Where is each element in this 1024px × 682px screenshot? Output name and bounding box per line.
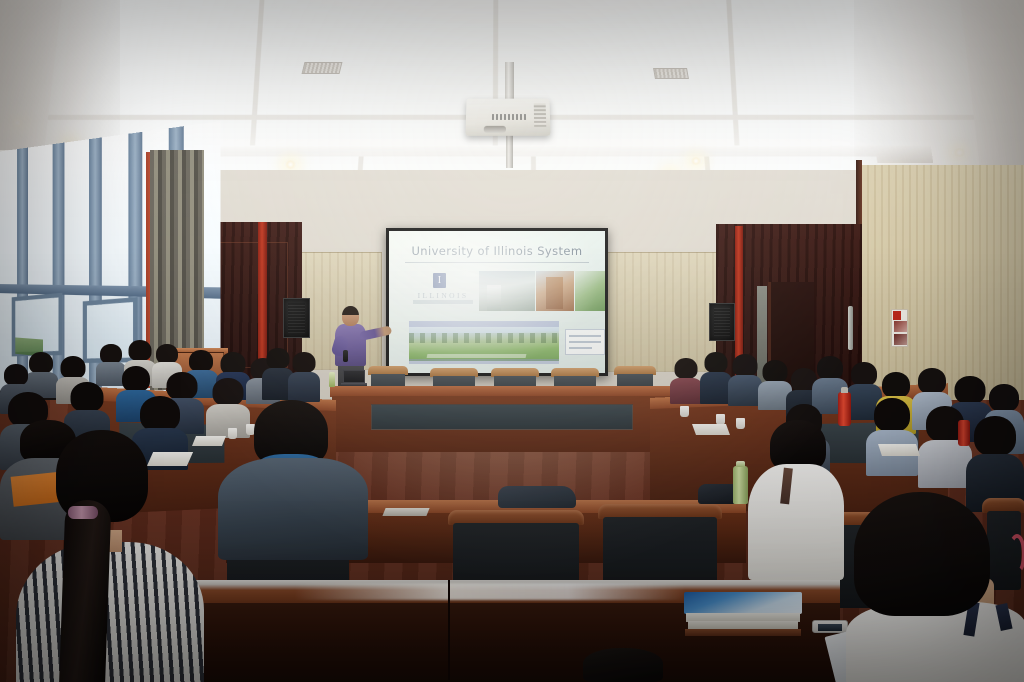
conference-table-far (330, 386, 674, 458)
table-inset-panel (371, 404, 632, 430)
attendee-white-top-lanyard (748, 420, 844, 580)
hvac-vent-icon (653, 68, 689, 79)
laptop[interactable] (341, 370, 367, 386)
illinois-logo: ILLINOIS (411, 273, 475, 307)
attendee-jacket (218, 458, 368, 560)
ponytail (59, 499, 112, 682)
campus-quad-panorama (409, 327, 559, 361)
slide-title-divider (405, 262, 589, 263)
water-bottle-red (958, 420, 970, 446)
campus-building-photo-2 (536, 271, 574, 311)
attendee-hair (854, 492, 990, 616)
projector-lens-icon (484, 126, 506, 133)
handheld-microphone (343, 350, 348, 362)
attendee-top (748, 464, 844, 580)
attendee-striped-shirt-ponytail (10, 430, 206, 682)
illinois-wordmark: ILLINOIS (411, 291, 475, 299)
slide-content: University of Illinois System ILLINOIS (389, 231, 605, 373)
projector-mount-pole-lower (506, 134, 513, 168)
hair-scrunchie (68, 506, 98, 519)
attendee (288, 352, 320, 402)
paper-cup (736, 418, 745, 429)
notebook (382, 508, 429, 516)
attendee (670, 358, 702, 404)
slide-text-box (565, 329, 605, 355)
downlight-icon (690, 157, 702, 165)
hvac-vent-icon (302, 62, 343, 74)
slide-accent-band-lower (409, 359, 559, 364)
paper-notes (878, 444, 920, 456)
door-handle[interactable] (848, 306, 853, 350)
water-bottle-green (329, 372, 335, 387)
conference-room-photo: University of Illinois System ILLINOIS (0, 0, 1024, 682)
attendee-blue-hood-jacket (218, 400, 368, 560)
attendee (918, 406, 972, 488)
striped-top (16, 542, 204, 682)
table-light-reflection (294, 583, 686, 600)
presenter-head (342, 306, 359, 326)
thermos-flask-green (733, 466, 748, 504)
paper-cup (680, 406, 689, 417)
projection-screen: University of Illinois System ILLINOIS (386, 228, 608, 376)
slide-title: University of Illinois System (389, 244, 605, 258)
book-stack-blue-cover (684, 592, 802, 638)
downlight-icon (284, 160, 297, 169)
attendee-bob-haircut-white-top (846, 492, 1024, 682)
red-bag-strap (1008, 534, 1024, 574)
illinois-logo-tagline (413, 300, 473, 304)
paper-notes (692, 424, 730, 435)
campus-building-photo-1 (479, 271, 535, 311)
ceiling-mounted-projector (465, 99, 550, 136)
attendee (578, 648, 668, 682)
attendee (866, 398, 918, 476)
smartphone-white[interactable] (812, 620, 848, 633)
fire-safety-sign (891, 309, 908, 347)
block-i-logo-icon (433, 273, 446, 288)
attendee (728, 354, 762, 406)
campus-greenery-photo-3 (575, 271, 605, 311)
wall-speaker-right (709, 303, 735, 341)
wall-speaker-left (283, 298, 310, 338)
laptop-bag-dark (498, 486, 576, 508)
